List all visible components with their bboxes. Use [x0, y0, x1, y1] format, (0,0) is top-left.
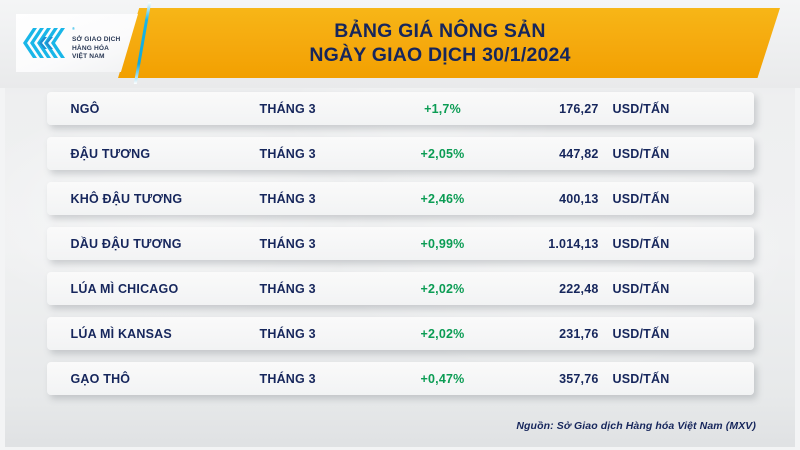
cell-contract-month: THÁNG 3 [260, 282, 316, 296]
cell-change-percent: +0,99% [397, 237, 489, 251]
cell-change-percent: +2,02% [397, 282, 489, 296]
cell-commodity: KHÔ ĐẬU TƯƠNG [71, 192, 183, 206]
cell-commodity: LÚA MÌ KANSAS [71, 327, 172, 341]
logo-card[interactable]: ® SỞ GIAO DỊCH HÀNG HÓA VIỆT NAM [16, 14, 138, 72]
cell-unit: USD/TẤN [613, 327, 670, 341]
table-row[interactable]: GẠO THÔTHÁNG 3+0,47%357,76USD/TẤN [47, 362, 754, 395]
cell-contract-month: THÁNG 3 [260, 147, 316, 161]
cell-change-percent: +2,46% [397, 192, 489, 206]
cell-contract-month: THÁNG 3 [260, 237, 316, 251]
price-table: NGÔTHÁNG 3+1,7%176,27USD/TẤNĐẬU TƯƠNGTHÁ… [0, 92, 800, 395]
cell-change-percent: +2,05% [397, 147, 489, 161]
cell-price: 357,76 [487, 372, 599, 386]
cell-commodity: DẦU ĐẬU TƯƠNG [71, 237, 182, 251]
cell-commodity: NGÔ [71, 102, 100, 116]
logo-line-1: SỞ GIAO DỊCH [72, 36, 120, 43]
title-line-2: NGÀY GIAO DỊCH 30/1/2024 [309, 44, 570, 67]
table-row[interactable]: NGÔTHÁNG 3+1,7%176,27USD/TẤN [47, 92, 754, 125]
cell-price: 400,13 [487, 192, 599, 206]
header: ® SỞ GIAO DỊCH HÀNG HÓA VIỆT NAM BẢNG GI… [0, 0, 800, 88]
cell-price: 176,27 [487, 102, 599, 116]
cell-commodity: ĐẬU TƯƠNG [71, 147, 151, 161]
logo-trademark: ® [72, 26, 75, 31]
table-row[interactable]: ĐẬU TƯƠNGTHÁNG 3+2,05%447,82USD/TẤN [47, 137, 754, 170]
cell-change-percent: +1,7% [397, 102, 489, 116]
logo-wordmark: ® SỞ GIAO DỊCH HÀNG HÓA VIỆT NAM [72, 25, 120, 62]
title-line-1: BẢNG GIÁ NÔNG SẢN [334, 20, 545, 43]
table-row[interactable]: DẦU ĐẬU TƯƠNGTHÁNG 3+0,99%1.014,13USD/TẤ… [47, 227, 754, 260]
cell-price: 231,76 [487, 327, 599, 341]
cell-unit: USD/TẤN [613, 102, 670, 116]
cell-unit: USD/TẤN [613, 282, 670, 296]
cell-price: 222,48 [487, 282, 599, 296]
cell-unit: USD/TẤN [613, 237, 670, 251]
cell-commodity: LÚA MÌ CHICAGO [71, 282, 179, 296]
cell-contract-month: THÁNG 3 [260, 327, 316, 341]
cell-unit: USD/TẤN [613, 147, 670, 161]
cell-contract-month: THÁNG 3 [260, 192, 316, 206]
page-title: BẢNG GIÁ NÔNG SẢN NGÀY GIAO DỊCH 30/1/20… [160, 8, 720, 78]
source-note: Nguồn: Sở Giao dịch Hàng hóa Việt Nam (M… [516, 420, 756, 432]
cell-contract-month: THÁNG 3 [260, 372, 316, 386]
cell-price: 447,82 [487, 147, 599, 161]
cell-contract-month: THÁNG 3 [260, 102, 316, 116]
logo-line-2: HÀNG HÓA [72, 45, 109, 52]
cell-unit: USD/TẤN [613, 192, 670, 206]
agri-price-board: ® SỞ GIAO DỊCH HÀNG HÓA VIỆT NAM BẢNG GI… [0, 0, 800, 450]
cell-price: 1.014,13 [487, 237, 599, 251]
table-row[interactable]: KHÔ ĐẬU TƯƠNGTHÁNG 3+2,46%400,13USD/TẤN [47, 182, 754, 215]
cell-unit: USD/TẤN [613, 372, 670, 386]
cell-change-percent: +2,02% [397, 327, 489, 341]
cell-commodity: GẠO THÔ [71, 372, 131, 386]
table-row[interactable]: LÚA MÌ CHICAGOTHÁNG 3+2,02%222,48USD/TẤN [47, 272, 754, 305]
cell-change-percent: +0,47% [397, 372, 489, 386]
logo-line-3: VIỆT NAM [72, 53, 105, 60]
mxv-logo-icon [22, 26, 69, 60]
table-row[interactable]: LÚA MÌ KANSASTHÁNG 3+2,02%231,76USD/TẤN [47, 317, 754, 350]
